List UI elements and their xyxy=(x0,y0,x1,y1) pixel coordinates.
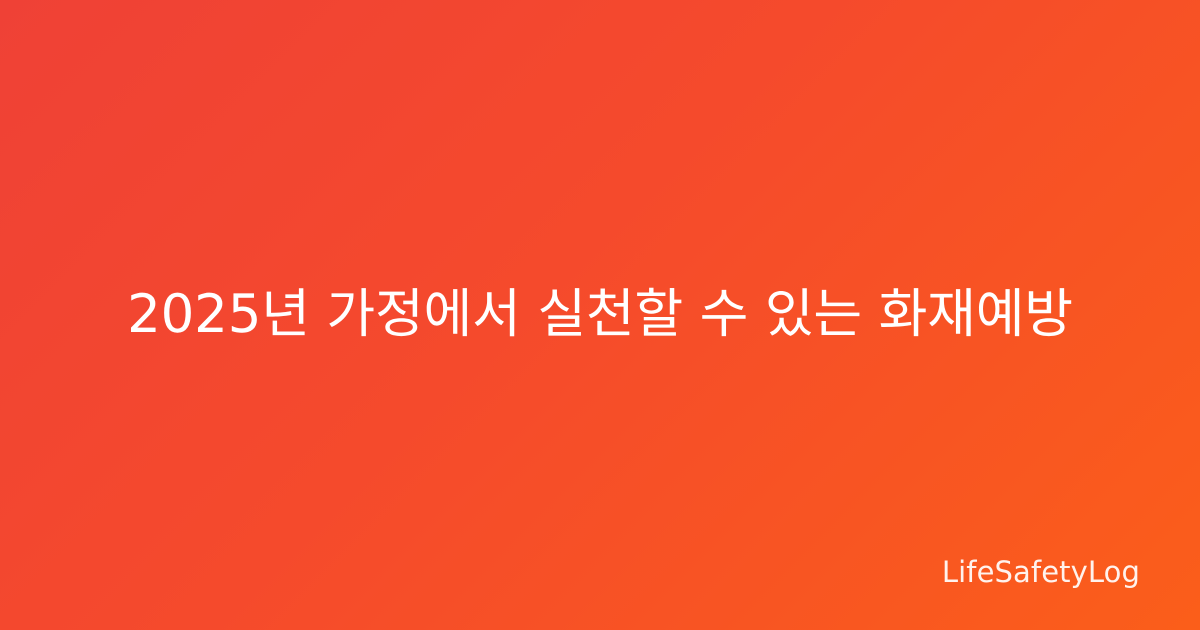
og-card: 2025년 가정에서 실천할 수 있는 화재예방 LifeSafetyLog xyxy=(0,0,1200,630)
site-watermark: LifeSafetyLog xyxy=(942,555,1140,590)
title-container: 2025년 가정에서 실천할 수 있는 화재예방 xyxy=(100,273,1100,357)
page-title: 2025년 가정에서 실천할 수 있는 화재예방 xyxy=(100,273,1100,357)
